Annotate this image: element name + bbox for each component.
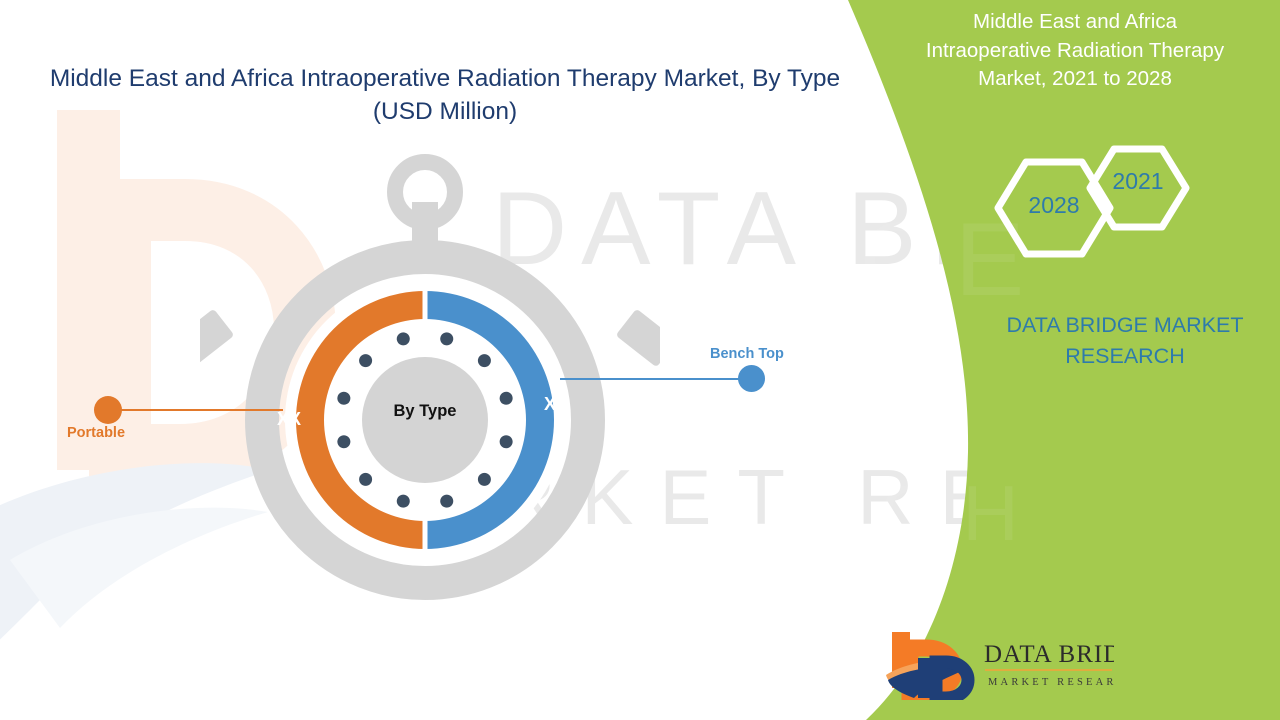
leader-knob-portable[interactable]: [94, 396, 122, 424]
slice-value-bench-top: XX: [544, 394, 568, 415]
green-panel-title-line2: Intraoperative Radiation Therapy: [905, 37, 1245, 66]
slice-value-portable: XX: [277, 409, 301, 430]
page-title-line1: Middle East and Africa Intraoperative Ra…: [30, 62, 860, 95]
data-bridge-logo: DATA BRIDGE MARKET RESEARCH: [884, 628, 1114, 700]
donut-chart: [200, 145, 660, 615]
infographic-canvas: DATA BRIDGE MARKET RESEARCH GE CH Middle…: [0, 0, 1280, 720]
green-panel-title-line1: Middle East and Africa: [905, 8, 1245, 37]
brand-name-line2: RESEARCH: [975, 341, 1275, 372]
hexagon-2021-label: 2021: [1090, 168, 1186, 195]
chart-center-label: By Type: [345, 402, 505, 421]
callout-label-bench-top: Bench Top: [710, 346, 784, 362]
brand-name: DATA BRIDGE MARKET RESEARCH: [975, 310, 1275, 372]
hexagon-group: 2021 2028: [980, 140, 1190, 290]
green-panel-title: Middle East and Africa Intraoperative Ra…: [905, 8, 1245, 94]
page-title-line2: (USD Million): [30, 95, 860, 128]
page-title: Middle East and Africa Intraoperative Ra…: [30, 62, 860, 128]
leader-line-portable: [108, 409, 283, 411]
logo-wordmark: DATA BRIDGE: [984, 641, 1114, 668]
brand-name-line1: DATA BRIDGE MARKET: [975, 310, 1275, 341]
svg-text:CH: CH: [880, 469, 1045, 557]
leader-knob-bench-top[interactable]: [738, 365, 765, 392]
hexagon-2028-label: 2028: [1006, 192, 1102, 219]
callout-label-portable: Portable: [67, 425, 125, 441]
leader-line-bench-top: [560, 378, 752, 380]
data-bridge-logo-icon: DATA BRIDGE MARKET RESEARCH: [884, 628, 1114, 700]
green-panel-title-line3: Market, 2021 to 2028: [905, 65, 1245, 94]
logo-tagline: MARKET RESEARCH: [988, 677, 1114, 688]
